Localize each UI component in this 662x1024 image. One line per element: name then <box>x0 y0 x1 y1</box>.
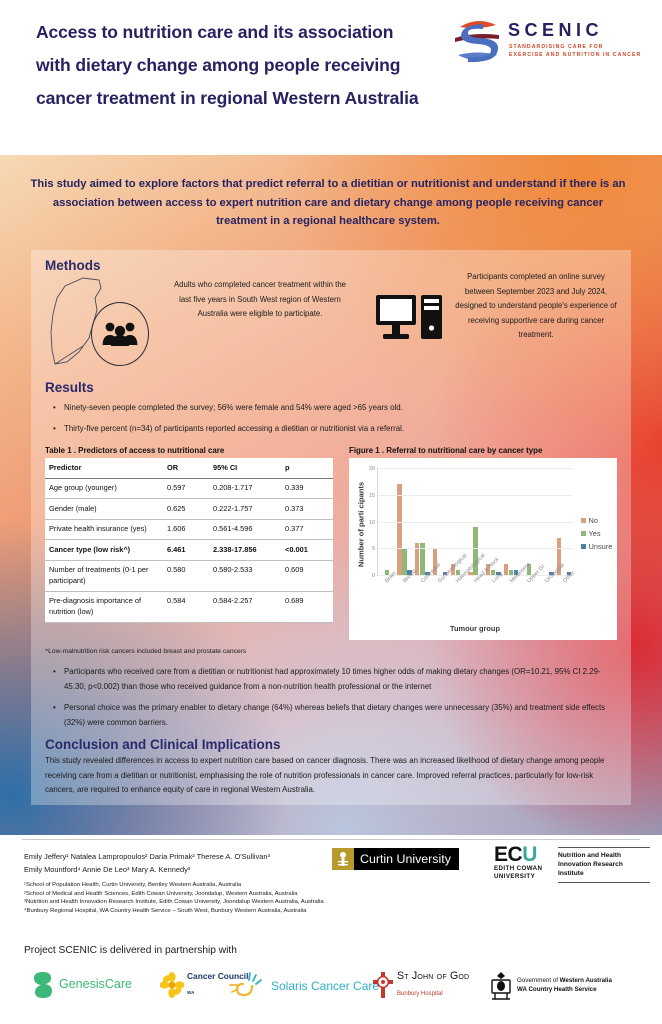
partner-logo-row: GenesisCare Cancer Council WA <box>20 963 648 1009</box>
table-row: Gender (male) 0.625 0.222-1.757 0.373 <box>45 499 333 520</box>
authors-line-1: Emily Jeffery¹ Natalea Lampropoulos² Dar… <box>24 851 324 864</box>
chart-y-axis-label: Number of parti cipants <box>357 465 366 585</box>
partner-label-block: Government of Western Australia WA Count… <box>517 977 612 994</box>
chart-bar <box>402 548 406 575</box>
chart-y-tick: 10 <box>369 520 375 526</box>
chart-legend: NoYesUnsure <box>581 516 612 555</box>
cell-ci: 0.584-2.257 <box>209 591 281 622</box>
list-item: Personal choice was the primary enabler … <box>51 701 619 730</box>
partner-sublabel: Bunbury Hospital <box>397 991 443 997</box>
scenic-logo-tagline-1: STANDARDISING CARE FOR <box>509 44 603 50</box>
poster-footer: Emily Jeffery¹ Natalea Lampropoulos² Dar… <box>0 835 662 1024</box>
figure-caption: Figure 1 . Referral to nutritional care … <box>349 446 542 455</box>
poster-header: Access to nutrition care and its associa… <box>0 0 662 158</box>
affiliation-item: ³Nutrition and Health Innovation Researc… <box>24 898 454 907</box>
chart-x-axis-label: Tumour group <box>377 624 573 633</box>
table-row: Age group (younger) 0.597 0.208-1.717 0.… <box>45 478 333 499</box>
cell-ci: 0.222-1.757 <box>209 499 281 520</box>
list-item: Ninety-seven people completed the survey… <box>51 402 616 414</box>
chart-y-tick: 20 <box>369 466 375 472</box>
cell-predictor: Cancer type (low risk^) <box>45 540 163 561</box>
study-aim-statement: This study aimed to explore factors that… <box>28 175 628 231</box>
cell-p: <0.001 <box>281 540 333 561</box>
partner-label: St John of God <box>397 971 469 982</box>
chart-legend-item: No <box>581 516 612 525</box>
genesiscare-icon <box>30 971 56 999</box>
chart-legend-swatch <box>581 531 586 536</box>
cell-ci: 0.561-4.596 <box>209 519 281 540</box>
chart-bar <box>397 484 401 575</box>
chart-bar <box>504 564 508 575</box>
partner-logo-st-john-of-god: St John of God Bunbury Hospital <box>372 971 469 1000</box>
column-header-ci: 95% CI <box>209 458 281 478</box>
cell-or: 0.584 <box>163 591 209 622</box>
chart-legend-swatch <box>581 518 586 523</box>
chart-legend-item: Unsure <box>581 542 612 551</box>
table-row-significant: Cancer type (low risk^) 6.461 2.338-17.8… <box>45 540 333 561</box>
results-bullet-list: Ninety-seven people completed the survey… <box>51 402 616 444</box>
curtin-university-logo: Curtin University <box>332 848 459 870</box>
daffodil-icon <box>160 972 184 998</box>
conclusion-body: This study revealed differences in acces… <box>45 754 617 798</box>
scenic-logo-tagline-2: EXERCISE AND NUTRITION IN CANCER <box>509 52 641 58</box>
table-row: Number of treatments (0-1 per participan… <box>45 560 333 591</box>
scenic-logo-name: SCENIC <box>508 20 603 41</box>
results-detail-bullets: Participants who received care from a di… <box>51 665 619 737</box>
cell-predictor: Gender (male) <box>45 499 163 520</box>
chart-legend-swatch <box>581 544 586 549</box>
methods-text-left: Adults who completed cancer treatment wi… <box>171 278 349 322</box>
author-list: Emily Jeffery¹ Natalea Lampropoulos² Dar… <box>24 851 324 876</box>
partner-logo-wa-government: Government of Western Australia WA Count… <box>488 971 612 1001</box>
table-row: Pre-diagnosis importance of nutrition (l… <box>45 591 333 622</box>
chart-legend-label: Unsure <box>589 542 613 551</box>
cell-p: 0.377 <box>281 519 333 540</box>
methods-text-right: Participants completed an online survey … <box>455 270 617 343</box>
people-group-icon <box>101 320 139 346</box>
partner-label: Government of Western Australia <box>517 977 612 986</box>
figure-1-chart: Number of parti cipants 05101520 BrainBr… <box>349 458 617 640</box>
cell-predictor: Private health insurance (yes) <box>45 519 163 540</box>
scenic-logo: SCENIC STANDARDISING CARE FOR EXERCISE A… <box>452 16 652 68</box>
chart-legend-label: Yes <box>589 529 601 538</box>
methods-heading: Methods <box>45 258 101 273</box>
list-item: Thirty-five percent (n=34) of participan… <box>51 423 616 435</box>
chart-legend-item: Yes <box>581 529 612 538</box>
ecu-name-line-1: EDITH COWAN <box>494 865 542 873</box>
affiliation-item: ¹School of Population Health, Curtin Uni… <box>24 881 454 890</box>
cell-or: 6.461 <box>163 540 209 561</box>
chart-gridline: 10 <box>378 522 573 523</box>
footer-divider <box>22 839 640 840</box>
column-header-p: p <box>281 458 333 478</box>
partnership-heading: Project SCENIC is delivered in partnersh… <box>24 945 237 956</box>
partner-sublabel: WA Country Health Service <box>517 986 597 993</box>
chart-y-tick: 0 <box>372 573 375 579</box>
cell-predictor: Pre-diagnosis importance of nutrition (l… <box>45 591 163 622</box>
partner-label: Solaris Cancer Care <box>271 980 379 993</box>
affiliation-item: ⁴Bunbury Regional Hospital, WA Country H… <box>24 907 454 916</box>
wa-coat-of-arms-icon <box>488 971 514 1001</box>
column-header-or: OR <box>163 458 209 478</box>
poster-root: Access to nutrition care and its associa… <box>0 0 662 1024</box>
partner-label-block: St John of God Bunbury Hospital <box>397 971 469 1000</box>
curtin-emblem-icon <box>332 848 354 870</box>
cell-or: 1.606 <box>163 519 209 540</box>
affiliations-list: ¹School of Population Health, Curtin Uni… <box>24 881 454 915</box>
table-footnote: ^Low-malnutrition risk cancers included … <box>45 648 246 655</box>
affiliation-item: ²School of Medical and Health Sciences, … <box>24 890 454 899</box>
solaris-sun-icon <box>228 971 268 1001</box>
list-item: Participants who received care from a di… <box>51 665 619 694</box>
cell-ci: 0.208-1.717 <box>209 478 281 499</box>
ecu-name-line-2: UNIVERSITY <box>494 873 542 881</box>
chart-gridline: 15 <box>378 495 573 496</box>
cell-p: 0.609 <box>281 560 333 591</box>
cell-ci: 2.338-17.856 <box>209 540 281 561</box>
partner-logo-solaris: Solaris Cancer Care <box>228 971 379 1001</box>
cell-predictor: Age group (younger) <box>45 478 163 499</box>
authors-line-2: Emily Mountford⁴ Annie De Leo³ Mary A. K… <box>24 864 324 877</box>
nhiri-logo-text: Nutrition and Health Innovation Research… <box>558 847 650 883</box>
cell-or: 0.597 <box>163 478 209 499</box>
content-card: Methods Adults who completed cancer trea… <box>31 250 631 805</box>
curtin-university-label: Curtin University <box>354 848 459 870</box>
column-header-predictor: Predictor <box>45 458 163 478</box>
ecu-monogram: ECU <box>494 845 542 865</box>
predictors-table: Predictor OR 95% CI p Age group (younger… <box>45 458 333 623</box>
chart-gridline: 5 <box>378 548 573 549</box>
cell-p: 0.689 <box>281 591 333 622</box>
partner-label: GenesisCare <box>59 978 132 992</box>
cell-or: 0.625 <box>163 499 209 520</box>
cross-icon <box>372 971 394 999</box>
chart-y-tick: 15 <box>369 493 375 499</box>
table-caption: Table 1 . Predictors of access to nutrit… <box>45 446 224 455</box>
cell-predictor: Number of treatments (0-1 per participan… <box>45 560 163 591</box>
chart-gridline: 20 <box>378 468 573 469</box>
cell-p: 0.339 <box>281 478 333 499</box>
chart-y-tick: 5 <box>372 546 375 552</box>
scenic-logo-mark <box>452 18 502 64</box>
results-heading: Results <box>45 380 94 395</box>
partner-logo-genesiscare: GenesisCare <box>30 971 132 999</box>
table-row: Private health insurance (yes) 1.606 0.5… <box>45 519 333 540</box>
partner-sublabel: WA <box>187 990 194 995</box>
cell-ci: 0.580-2.533 <box>209 560 281 591</box>
page-title: Access to nutrition care and its associa… <box>36 16 426 115</box>
ecu-logo: ECU EDITH COWAN UNIVERSITY <box>494 845 542 880</box>
computer-icon <box>375 292 443 346</box>
conclusion-heading: Conclusion and Clinical Implications <box>45 737 281 752</box>
cell-or: 0.580 <box>163 560 209 591</box>
table-header-row: Predictor OR 95% CI p <box>45 458 333 478</box>
chart-legend-label: No <box>589 516 598 525</box>
cell-p: 0.373 <box>281 499 333 520</box>
chart-x-tick-labels: BrainBreastColorectalGynaecologicalHaema… <box>377 578 573 622</box>
poster-body: This study aimed to explore factors that… <box>0 155 662 835</box>
